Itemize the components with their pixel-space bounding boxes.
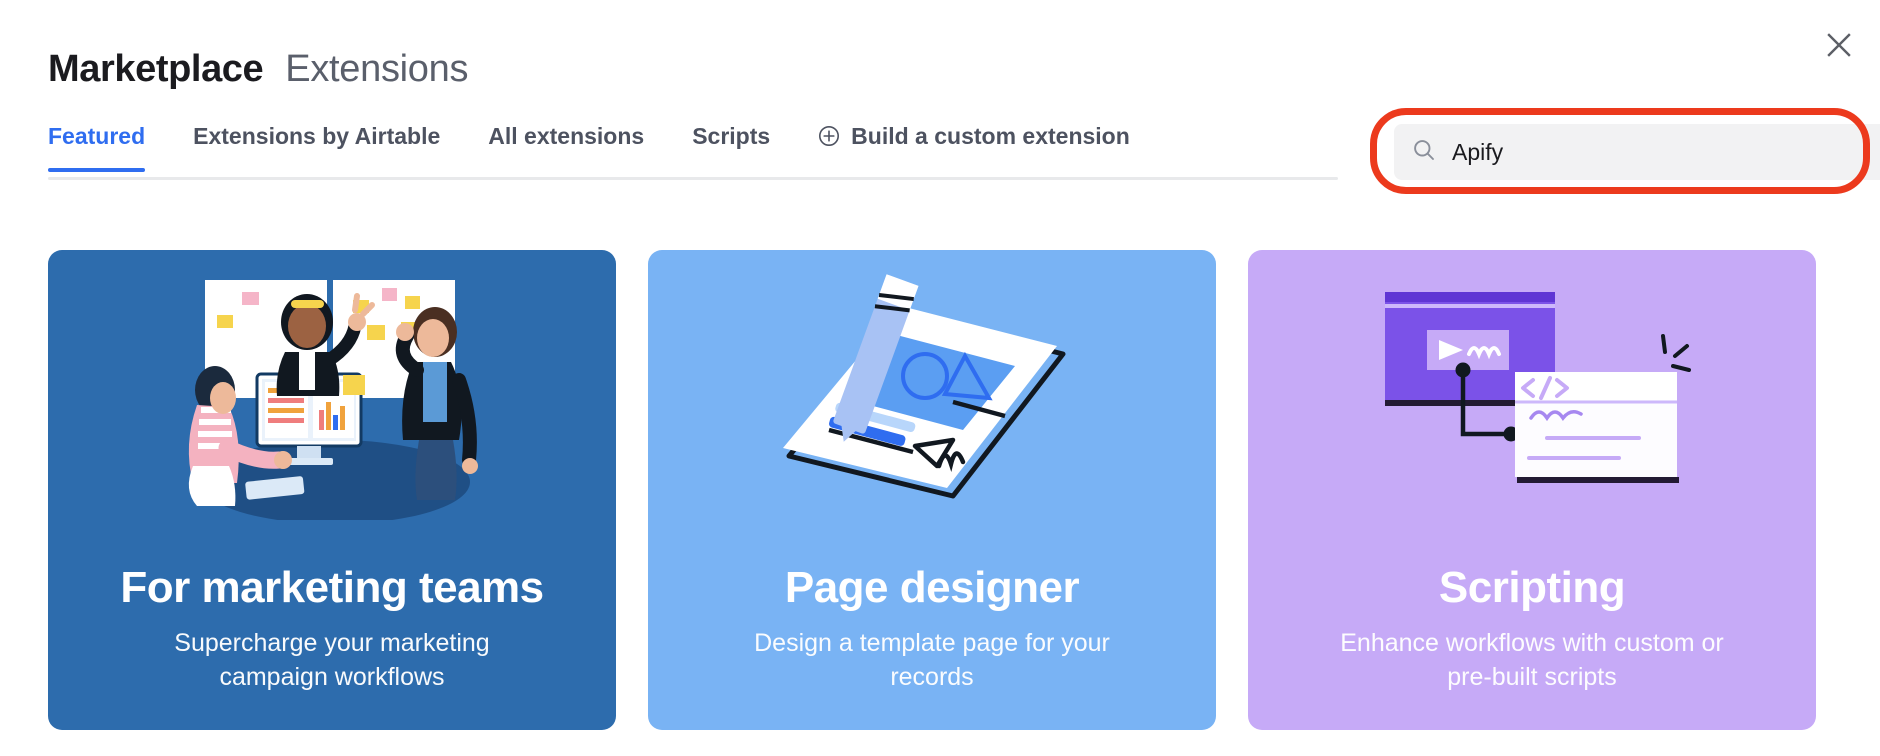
tab-all-extensions[interactable]: All extensions: [488, 122, 644, 172]
card-subtitle: Enhance workflows with custom or pre-bui…: [1317, 626, 1747, 694]
tab-extensions-by-airtable-label: Extensions by Airtable: [193, 122, 440, 150]
team-whiteboard-illustration-svg: [167, 270, 497, 520]
plus-circle-icon-glyph: [818, 125, 840, 147]
tab-scripts-label: Scripts: [692, 122, 770, 150]
tab-extensions-by-airtable[interactable]: Extensions by Airtable: [193, 122, 440, 172]
tab-bar: Featured Extensions by Airtable All exte…: [48, 122, 1338, 190]
search-icon-glyph: [1412, 138, 1436, 162]
tab-build-custom-extension[interactable]: Build a custom extension: [818, 122, 1130, 172]
title-extensions: Extensions: [285, 48, 468, 91]
tab-featured-label: Featured: [48, 122, 145, 150]
tab-underline-track: [48, 177, 1338, 180]
code-window-illustration: [1248, 250, 1816, 540]
tab-build-custom-extension-label: Build a custom extension: [851, 122, 1130, 150]
pencil-page-illustration-svg: [767, 270, 1097, 520]
tab-all-extensions-label: All extensions: [488, 122, 644, 150]
search-input[interactable]: [1452, 139, 1872, 166]
search-container: [1394, 124, 1880, 180]
code-window-illustration-svg: [1367, 270, 1697, 520]
card-title: Scripting: [1439, 562, 1625, 614]
card-for-marketing-teams[interactable]: For marketing teams Supercharge your mar…: [48, 250, 616, 730]
plus-circle-icon: [818, 125, 840, 147]
pencil-page-illustration: [648, 250, 1216, 540]
search-icon: [1412, 138, 1436, 167]
page-title: Marketplace Extensions: [48, 48, 468, 91]
card-subtitle: Supercharge your marketing campaign work…: [117, 626, 547, 694]
close-icon[interactable]: [1818, 24, 1860, 66]
marketplace-extensions-panel: Marketplace Extensions Featured Extensio…: [0, 0, 1880, 756]
card-title: Page designer: [785, 562, 1079, 614]
team-whiteboard-illustration: [48, 250, 616, 540]
tab-scripts[interactable]: Scripts: [692, 122, 770, 172]
title-marketplace: Marketplace: [48, 48, 263, 91]
featured-card-grid: For marketing teams Supercharge your mar…: [48, 250, 1816, 730]
card-scripting[interactable]: Scripting Enhance workflows with custom …: [1248, 250, 1816, 730]
search-box[interactable]: [1394, 124, 1880, 180]
card-title: For marketing teams: [120, 562, 543, 614]
close-icon-glyph: [1826, 32, 1852, 58]
card-page-designer[interactable]: Page designer Design a template page for…: [648, 250, 1216, 730]
card-subtitle: Design a template page for your records: [717, 626, 1147, 694]
tab-featured[interactable]: Featured: [48, 122, 145, 172]
